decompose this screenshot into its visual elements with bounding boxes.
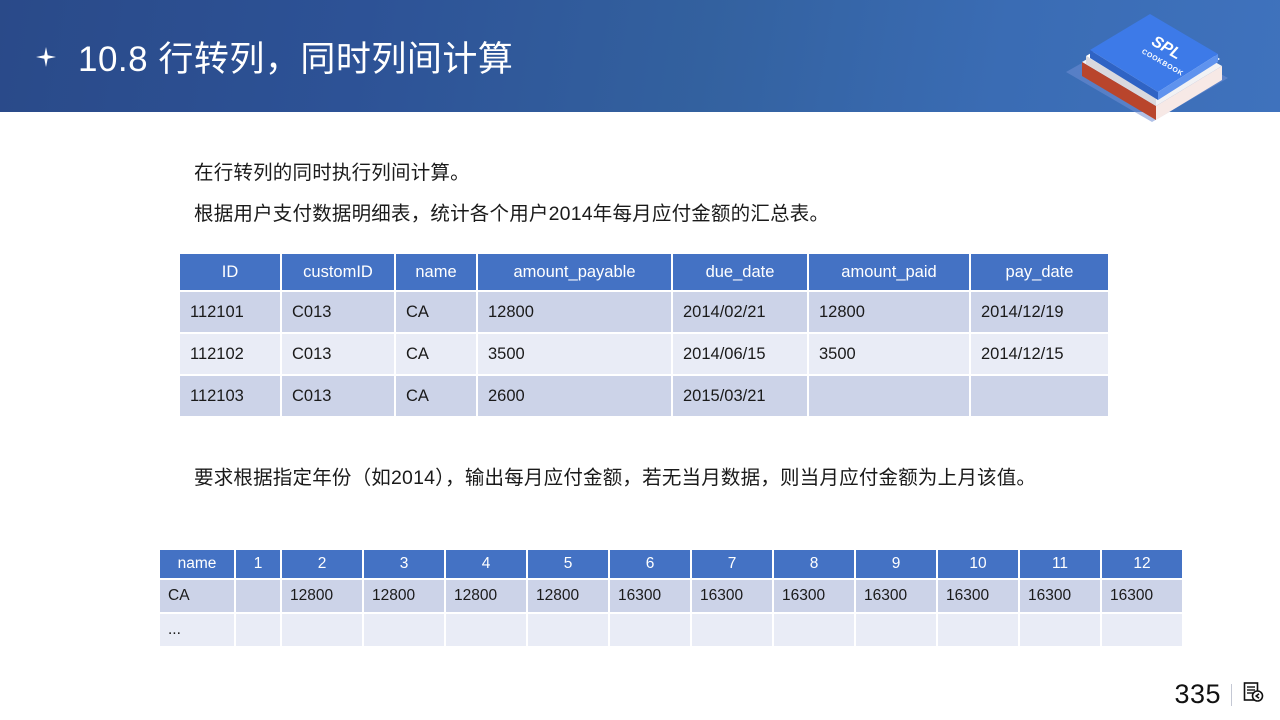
requirement-paragraph: 要求根据指定年份（如2014），输出每月应付金额，若无当月数据，则当月应付金额为… — [194, 463, 1074, 493]
document-back-icon[interactable] — [1242, 681, 1264, 708]
cell-month-1 — [235, 613, 281, 647]
column-header-month-8: 8 — [773, 550, 855, 579]
cell-name: CA — [160, 579, 235, 613]
column-header-due-date: due_date — [672, 254, 808, 291]
column-header-month-1: 1 — [235, 550, 281, 579]
cell-id: 112103 — [180, 375, 281, 417]
page-number: 335 — [1174, 679, 1221, 710]
column-header-month-9: 9 — [855, 550, 937, 579]
table-row: 112102 C013 CA 3500 2014/06/15 3500 2014… — [180, 333, 1108, 375]
cell-month-6: 16300 — [609, 579, 691, 613]
cell-pay-date — [970, 375, 1108, 417]
cell-month-5 — [527, 613, 609, 647]
column-header-amount-paid: amount_paid — [808, 254, 970, 291]
cell-month-10: 16300 — [937, 579, 1019, 613]
cell-pay-date: 2014/12/19 — [970, 291, 1108, 333]
table-row: CA 12800 12800 12800 12800 16300 16300 1… — [160, 579, 1182, 613]
cell-month-8 — [773, 613, 855, 647]
cell-month-7: 16300 — [691, 579, 773, 613]
column-header-name: name — [395, 254, 477, 291]
cell-name: CA — [395, 333, 477, 375]
table-header-row: ID customID name amount_payable due_date… — [180, 254, 1108, 291]
cell-customid: C013 — [281, 291, 395, 333]
cell-month-3 — [363, 613, 445, 647]
cell-amount-payable: 3500 — [477, 333, 672, 375]
cell-customid: C013 — [281, 333, 395, 375]
cell-month-11 — [1019, 613, 1101, 647]
cell-customid: C013 — [281, 375, 395, 417]
cell-month-12 — [1101, 613, 1182, 647]
column-header-month-12: 12 — [1101, 550, 1182, 579]
header-title-group: 10.8 行转列，同时列间计算 — [36, 0, 513, 112]
payments-detail-table: ID customID name amount_payable due_date… — [180, 254, 1108, 418]
slide-footer: 335 — [1174, 679, 1264, 710]
cell-amount-paid — [808, 375, 970, 417]
cell-month-4 — [445, 613, 527, 647]
cell-month-6 — [609, 613, 691, 647]
cell-month-8: 16300 — [773, 579, 855, 613]
cell-month-9: 16300 — [855, 579, 937, 613]
column-header-name: name — [160, 550, 235, 579]
cell-amount-paid: 12800 — [808, 291, 970, 333]
table-row: 112101 C013 CA 12800 2014/02/21 12800 20… — [180, 291, 1108, 333]
column-header-month-10: 10 — [937, 550, 1019, 579]
column-header-id: ID — [180, 254, 281, 291]
cell-pay-date: 2014/12/15 — [970, 333, 1108, 375]
cell-amount-payable: 12800 — [477, 291, 672, 333]
column-header-month-2: 2 — [281, 550, 363, 579]
column-header-amount-payable: amount_payable — [477, 254, 672, 291]
cell-month-10 — [937, 613, 1019, 647]
column-header-customid: customID — [281, 254, 395, 291]
footer-divider — [1231, 684, 1232, 706]
cell-month-11: 16300 — [1019, 579, 1101, 613]
sparkle-star-icon — [36, 47, 56, 67]
intro-paragraph-2: 根据用户支付数据明细表，统计各个用户2014年每月应付金额的汇总表。 — [194, 200, 829, 228]
slide-header-banner: 10.8 行转列，同时列间计算 — [0, 0, 1280, 112]
cell-month-1 — [235, 579, 281, 613]
cell-month-3: 12800 — [363, 579, 445, 613]
table-row: 112103 C013 CA 2600 2015/03/21 — [180, 375, 1108, 417]
cell-name: ... — [160, 613, 235, 647]
cell-month-4: 12800 — [445, 579, 527, 613]
cell-month-2 — [281, 613, 363, 647]
cell-month-7 — [691, 613, 773, 647]
monthly-pivot-table: name 1 2 3 4 5 6 7 8 9 10 11 12 CA 12800… — [160, 550, 1182, 648]
cell-due-date: 2014/06/15 — [672, 333, 808, 375]
cell-name: CA — [395, 375, 477, 417]
intro-paragraph-1: 在行转列的同时执行列间计算。 — [194, 159, 470, 187]
cell-month-5: 12800 — [527, 579, 609, 613]
column-header-month-7: 7 — [691, 550, 773, 579]
table-header-row: name 1 2 3 4 5 6 7 8 9 10 11 12 — [160, 550, 1182, 579]
cell-month-2: 12800 — [281, 579, 363, 613]
cell-due-date: 2015/03/21 — [672, 375, 808, 417]
cell-amount-paid: 3500 — [808, 333, 970, 375]
cell-month-12: 16300 — [1101, 579, 1182, 613]
cell-id: 112102 — [180, 333, 281, 375]
column-header-month-4: 4 — [445, 550, 527, 579]
page-title: 10.8 行转列，同时列间计算 — [78, 31, 513, 82]
cell-id: 112101 — [180, 291, 281, 333]
column-header-month-3: 3 — [363, 550, 445, 579]
column-header-month-5: 5 — [527, 550, 609, 579]
cell-amount-payable: 2600 — [477, 375, 672, 417]
table-row: ... — [160, 613, 1182, 647]
column-header-month-6: 6 — [609, 550, 691, 579]
cell-name: CA — [395, 291, 477, 333]
cell-due-date: 2014/02/21 — [672, 291, 808, 333]
column-header-pay-date: pay_date — [970, 254, 1108, 291]
cell-month-9 — [855, 613, 937, 647]
column-header-month-11: 11 — [1019, 550, 1101, 579]
